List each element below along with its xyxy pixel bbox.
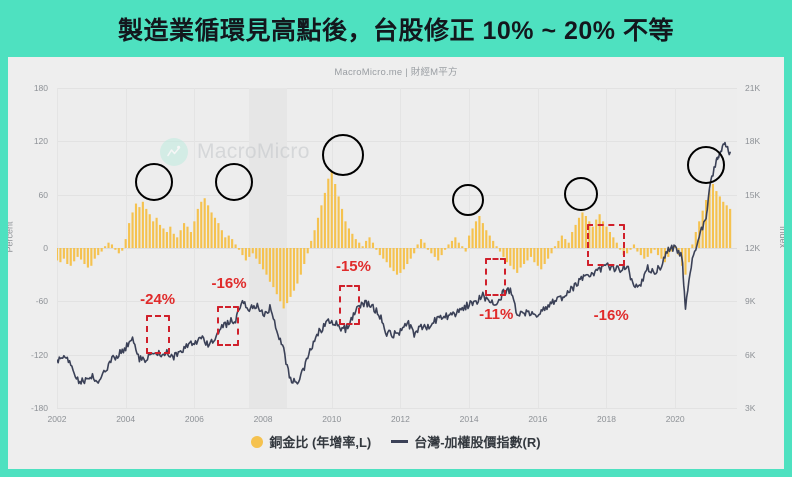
bar	[248, 248, 250, 257]
bar	[135, 204, 137, 248]
bar	[317, 218, 319, 248]
drawdown-highlight-box	[217, 306, 239, 346]
bar	[581, 212, 583, 248]
bar	[66, 248, 68, 264]
bar	[217, 223, 219, 248]
bar	[338, 196, 340, 248]
bar	[403, 248, 405, 269]
bar	[97, 248, 99, 255]
peak-highlight-circle	[215, 163, 253, 201]
bar	[719, 196, 721, 248]
bar	[547, 248, 549, 259]
bar	[554, 246, 556, 248]
bar	[214, 218, 216, 248]
drawdown-label: -15%	[336, 258, 371, 275]
bar	[265, 248, 267, 275]
bar	[643, 248, 645, 259]
bar	[63, 248, 65, 259]
bar	[94, 248, 96, 259]
bar	[348, 228, 350, 248]
drawdown-highlight-box	[146, 315, 170, 353]
bar	[386, 248, 388, 262]
bar	[465, 248, 467, 252]
y-axis-right-tick-label: 18K	[745, 136, 784, 146]
bar	[420, 239, 422, 248]
bar	[575, 225, 577, 248]
drawdown-label: -16%	[594, 307, 629, 324]
bar	[489, 236, 491, 248]
bar	[492, 241, 494, 248]
bar	[87, 248, 89, 268]
bar	[437, 248, 439, 260]
legend-item[interactable]: 銅金比 (年增率,L)	[251, 432, 371, 451]
y-axis-right-tick-label: 6K	[745, 350, 784, 360]
y-axis-right-tick-label: 21K	[745, 83, 784, 93]
bar	[526, 248, 528, 260]
bar	[252, 248, 254, 253]
y-axis-left-tick-label: 120	[8, 136, 48, 146]
bar	[77, 248, 79, 257]
bar	[396, 248, 398, 275]
bar	[142, 202, 144, 248]
x-axis-tick-label: 2012	[377, 414, 423, 424]
bar	[193, 221, 195, 248]
bar	[650, 248, 652, 253]
chart-screenshot-root: 製造業循環見高點後，台股修正 10% ~ 20% 不等 MacroMicro.m…	[0, 0, 792, 477]
y-axis-left-tick-label: -60	[8, 296, 48, 306]
bar	[80, 248, 82, 260]
bar	[355, 239, 357, 248]
bar	[712, 184, 714, 248]
bar	[516, 248, 518, 273]
bar	[101, 248, 103, 252]
bar	[221, 230, 223, 248]
bar	[393, 248, 395, 271]
bar	[406, 248, 408, 264]
bar	[159, 225, 161, 248]
bar	[293, 248, 295, 291]
bar	[204, 198, 206, 248]
bar	[447, 244, 449, 248]
bar	[362, 246, 364, 248]
bar	[358, 243, 360, 248]
bar	[310, 241, 312, 248]
bar	[276, 248, 278, 294]
bar	[138, 207, 140, 248]
bar	[382, 248, 384, 259]
bar	[121, 248, 123, 251]
bar	[458, 243, 460, 248]
bar	[70, 248, 72, 266]
bar	[640, 248, 642, 255]
y-axis-left-tick-label: 180	[8, 83, 48, 93]
bar	[186, 227, 188, 248]
x-axis-tick-label: 2006	[171, 414, 217, 424]
legend-dot-icon	[251, 436, 263, 448]
bar	[561, 236, 563, 248]
bar	[166, 232, 168, 248]
bar	[365, 241, 367, 248]
bar	[224, 237, 226, 248]
bar	[152, 221, 154, 248]
y-axis-right-tick-label: 3K	[745, 403, 784, 413]
bar	[499, 248, 501, 252]
bar	[568, 243, 570, 248]
bar	[478, 216, 480, 248]
bar	[633, 244, 635, 248]
bar	[636, 248, 638, 252]
x-axis-tick-label: 2008	[240, 414, 286, 424]
y-axis-left-tick-label: -120	[8, 350, 48, 360]
peak-highlight-circle	[564, 177, 598, 211]
bar	[375, 248, 377, 250]
chart-source-subtitle: MacroMicro.me | 財經M平方	[8, 64, 784, 78]
bar	[300, 248, 302, 275]
bar	[269, 248, 271, 282]
bar	[320, 205, 322, 248]
bar	[520, 248, 522, 268]
bar	[509, 248, 511, 266]
drawdown-highlight-box	[339, 285, 359, 325]
bar	[107, 243, 109, 248]
bar	[344, 221, 346, 248]
drawdown-highlight-box	[587, 224, 624, 266]
bar	[314, 230, 316, 248]
bar	[259, 248, 261, 264]
bar	[131, 212, 133, 248]
bar	[307, 248, 309, 253]
bar	[190, 232, 192, 248]
bar	[183, 223, 185, 248]
drawdown-label: -16%	[212, 275, 247, 292]
bar	[289, 248, 291, 297]
bar	[207, 205, 209, 248]
bar	[571, 232, 573, 248]
bar	[726, 205, 728, 248]
bar	[626, 248, 628, 253]
y-axis-right-tick-label: 9K	[745, 296, 784, 306]
drawdown-highlight-box	[485, 258, 505, 296]
y-axis-right-tick-label: 15K	[745, 190, 784, 200]
x-axis-tick-label: 2010	[309, 414, 355, 424]
bar	[389, 248, 391, 268]
bar	[241, 248, 243, 255]
bar	[90, 248, 92, 266]
bar	[441, 248, 443, 255]
chart-canvas	[57, 88, 737, 408]
bar	[286, 248, 288, 303]
bar	[557, 241, 559, 248]
bar	[471, 228, 473, 248]
bar	[125, 239, 127, 248]
bar	[454, 237, 456, 248]
bar	[410, 248, 412, 259]
bar	[173, 234, 175, 248]
bar	[502, 248, 504, 257]
bar	[156, 218, 158, 248]
bar	[578, 218, 580, 248]
bar	[59, 248, 61, 262]
bar	[57, 248, 58, 260]
x-axis-tick-label: 2020	[652, 414, 698, 424]
bar	[114, 248, 116, 250]
legend-label: 銅金比 (年增率,L)	[269, 432, 371, 451]
y-axis-left-tick-label: -180	[8, 403, 48, 413]
bar	[238, 248, 240, 250]
bar	[485, 230, 487, 248]
bar	[283, 248, 285, 308]
bar	[715, 191, 717, 248]
legend-item[interactable]: 台灣-加權股價指數(R)	[391, 432, 540, 451]
bar	[341, 209, 343, 248]
bar	[235, 244, 237, 248]
bar	[73, 248, 75, 261]
bar	[180, 230, 182, 248]
bar	[272, 248, 274, 287]
bar	[128, 223, 130, 248]
bar	[111, 244, 113, 248]
x-axis-tick-label: 2018	[583, 414, 629, 424]
bar	[688, 248, 690, 262]
bar	[722, 202, 724, 248]
bar	[475, 221, 477, 248]
bar	[417, 244, 419, 248]
bar	[399, 248, 401, 273]
bar	[327, 179, 329, 248]
bar	[372, 243, 374, 248]
bar	[647, 248, 649, 257]
y-axis-left-tick-label: 0	[8, 243, 48, 253]
bar	[245, 248, 247, 260]
bar	[430, 248, 432, 253]
bar	[368, 237, 370, 248]
title-band: 製造業循環見高點後，台股修正 10% ~ 20% 不等	[0, 0, 792, 57]
chart-legend: 銅金比 (年增率,L)台灣-加權股價指數(R)	[8, 432, 784, 451]
bar	[629, 248, 631, 250]
bar	[262, 248, 264, 269]
bar	[379, 248, 381, 255]
bar	[296, 248, 298, 284]
plot-area: MacroMicro -24%-16%-15%-11%-16%	[57, 88, 737, 408]
bar	[231, 239, 233, 248]
bar	[482, 223, 484, 248]
legend-line-icon	[391, 440, 408, 443]
bar	[255, 248, 257, 259]
bar	[279, 248, 281, 301]
bar	[540, 248, 542, 269]
bar	[104, 246, 106, 248]
bar	[210, 212, 212, 248]
bar	[530, 248, 532, 257]
x-axis-tick-label: 2016	[515, 414, 561, 424]
bar	[684, 248, 686, 275]
bar	[197, 209, 199, 248]
y-axis-left-tick-label: 60	[8, 190, 48, 200]
bar	[427, 248, 429, 250]
bar	[496, 246, 498, 248]
bar	[118, 248, 120, 253]
bar	[228, 236, 230, 248]
chart-panel: MacroMicro.me | 財經M平方 Percent Index 1801…	[8, 57, 784, 469]
bar	[729, 209, 731, 248]
bar	[468, 236, 470, 248]
bar	[83, 248, 85, 264]
bar	[444, 248, 446, 250]
bar	[654, 248, 656, 250]
bar	[303, 248, 305, 264]
peak-highlight-circle	[322, 134, 364, 176]
bar	[413, 248, 415, 253]
bar	[660, 248, 662, 259]
bar	[523, 248, 525, 264]
bar	[324, 193, 326, 248]
gridline-horizontal	[57, 408, 737, 409]
x-axis-tick-label: 2004	[103, 414, 149, 424]
bar	[544, 248, 546, 264]
bar	[149, 214, 151, 248]
bar	[331, 172, 333, 248]
bar	[506, 248, 508, 262]
bar	[334, 184, 336, 248]
x-axis-tick-label: 2002	[34, 414, 80, 424]
bar	[537, 248, 539, 266]
bar	[169, 227, 171, 248]
bar	[162, 228, 164, 248]
bar	[513, 248, 515, 269]
bar	[200, 202, 202, 248]
bar	[423, 243, 425, 248]
bar	[564, 239, 566, 248]
peak-highlight-circle	[687, 146, 725, 184]
drawdown-label: -11%	[479, 306, 513, 323]
bar	[533, 248, 535, 262]
bar	[176, 237, 178, 248]
x-axis-tick-label: 2014	[446, 414, 492, 424]
drawdown-label: -24%	[140, 291, 175, 308]
bar	[351, 234, 353, 248]
y-axis-right-tick-label: 12K	[745, 243, 784, 253]
bar	[451, 241, 453, 248]
bar	[145, 209, 147, 248]
legend-label: 台灣-加權股價指數(R)	[414, 432, 540, 451]
bar	[550, 248, 552, 253]
page-title: 製造業循環見高點後，台股修正 10% ~ 20% 不等	[118, 11, 674, 47]
bar	[461, 246, 463, 248]
bar	[691, 244, 693, 248]
bar	[434, 248, 436, 257]
bar	[657, 248, 659, 255]
